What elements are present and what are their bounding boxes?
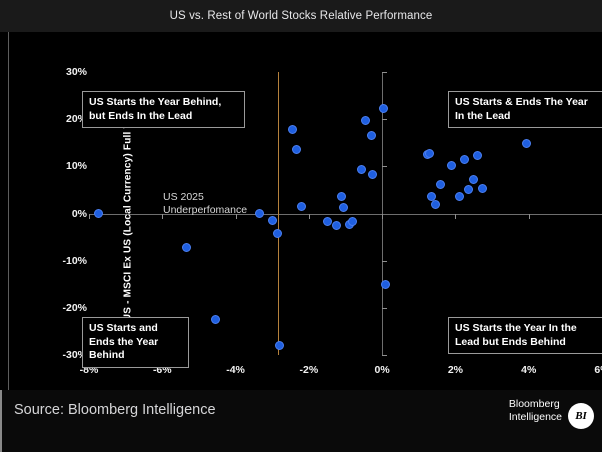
- data-point: [381, 280, 390, 289]
- data-point: [94, 209, 103, 218]
- y-tick-mark: [382, 261, 387, 262]
- data-point: [455, 192, 464, 201]
- x-tick-label: -2%: [289, 364, 329, 376]
- data-point: [297, 202, 306, 211]
- brand-line-1: Bloomberg: [509, 398, 562, 411]
- y-tick-label: 30%: [27, 66, 87, 78]
- x-tick-mark: [382, 214, 383, 219]
- window-titlebar: US vs. Rest of World Stocks Relative Per…: [0, 0, 602, 32]
- y-tick-mark: [382, 355, 387, 356]
- annotation-bottom-left: US Starts and Ends the Year Behind: [82, 317, 189, 368]
- annotation-underperformance-line2: Underperfomance: [163, 204, 247, 217]
- x-tick-label: 6%: [582, 364, 602, 376]
- data-point: [268, 216, 277, 225]
- data-point: [275, 341, 284, 350]
- data-point: [460, 155, 469, 164]
- chart-canvas: US - MSCI Ex US (Local Currency) Full Ye…: [8, 32, 602, 390]
- annotation-top-right: US Starts & Ends The Year In the Lead: [448, 91, 602, 128]
- y-tick-mark: [382, 308, 387, 309]
- data-point: [425, 149, 434, 158]
- data-point: [522, 139, 531, 148]
- data-point: [211, 315, 220, 324]
- annotation-top-left: US Starts the Year Behind, but Ends In t…: [82, 91, 245, 128]
- data-point: [357, 165, 366, 174]
- brand-line-2: Intelligence: [509, 411, 562, 424]
- y-tick-mark: [382, 72, 387, 73]
- y-tick-label: -30%: [27, 349, 87, 361]
- y-tick-mark: [382, 166, 387, 167]
- annotation-underperformance: US 2025 Underperfomance: [163, 191, 247, 217]
- data-point: [379, 104, 388, 113]
- x-tick-mark: [455, 214, 456, 219]
- data-point: [469, 175, 478, 184]
- underperformance-reference-line: [278, 72, 279, 355]
- y-tick-label: 0%: [27, 208, 87, 220]
- x-tick-label: 4%: [509, 364, 549, 376]
- data-point: [368, 170, 377, 179]
- y-tick-label: 10%: [27, 160, 87, 172]
- annotation-bottom-right: US Starts the Year In the Lead but Ends …: [448, 317, 602, 354]
- x-tick-mark: [89, 214, 90, 219]
- annotation-underperformance-line1: US 2025: [163, 191, 247, 204]
- data-point: [337, 192, 346, 201]
- data-point: [473, 151, 482, 160]
- chart-footer: Source: Bloomberg Intelligence Bloomberg…: [0, 390, 602, 452]
- y-axis-label: US - MSCI Ex US (Local Currency) Full Ye…: [123, 106, 134, 320]
- data-point: [447, 161, 456, 170]
- brand-name: Bloomberg Intelligence: [509, 398, 562, 424]
- y-tick-mark: [382, 119, 387, 120]
- data-point: [478, 184, 487, 193]
- data-point: [182, 243, 191, 252]
- y-tick-label: -10%: [27, 255, 87, 267]
- data-point: [361, 116, 370, 125]
- data-point: [323, 217, 332, 226]
- bloomberg-intelligence-badge-icon: BI: [568, 403, 594, 429]
- data-point: [339, 203, 348, 212]
- data-point: [464, 185, 473, 194]
- scatter-plot: US - MSCI Ex US (Local Currency) Full Ye…: [89, 72, 602, 355]
- page-title: US vs. Rest of World Stocks Relative Per…: [170, 10, 433, 22]
- data-point: [431, 200, 440, 209]
- y-tick-label: -20%: [27, 302, 87, 314]
- x-tick-mark: [529, 214, 530, 219]
- data-point: [367, 131, 376, 140]
- data-point: [273, 229, 282, 238]
- data-point: [348, 217, 357, 226]
- y-tick-label: 20%: [27, 113, 87, 125]
- data-point: [288, 125, 297, 134]
- data-point: [255, 209, 264, 218]
- x-tick-mark: [309, 214, 310, 219]
- x-tick-label: -4%: [216, 364, 256, 376]
- data-point: [292, 145, 301, 154]
- data-point: [332, 221, 341, 230]
- x-tick-label: 2%: [435, 364, 475, 376]
- data-point: [436, 180, 445, 189]
- x-tick-label: 0%: [362, 364, 402, 376]
- source-text: Source: Bloomberg Intelligence: [14, 402, 216, 418]
